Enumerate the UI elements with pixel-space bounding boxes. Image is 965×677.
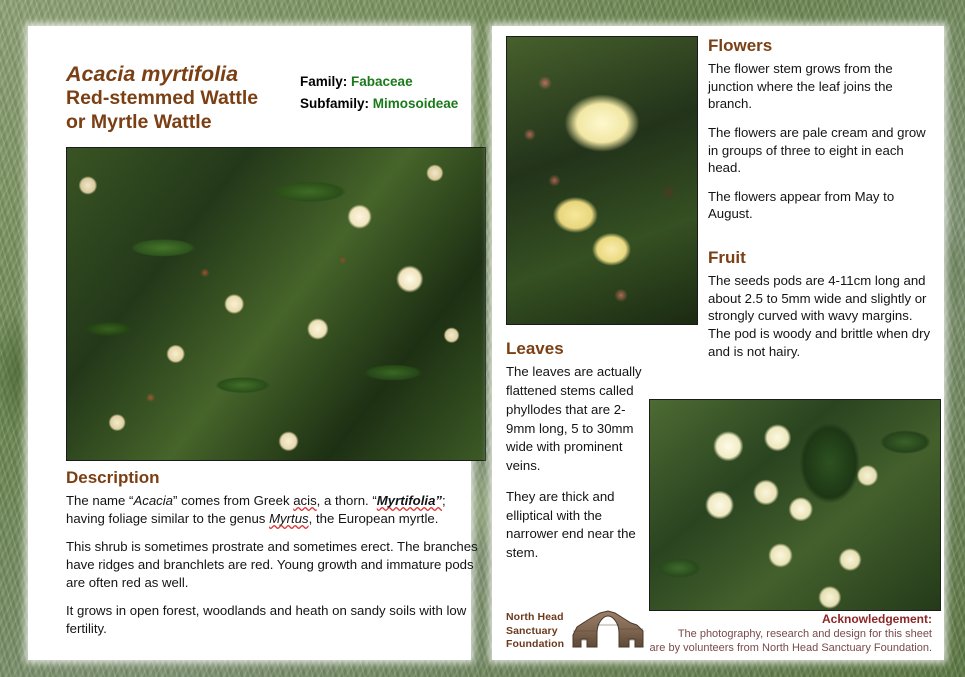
description-paragraph-2: This shrub is sometimes prostrate and so… — [66, 538, 486, 591]
subfamily-value: Mimosoideae — [373, 96, 459, 111]
fruit-paragraph-1: The seeds pods are 4-11cm long and about… — [708, 272, 932, 360]
taxonomy-family-row: Family: Fabaceae — [300, 71, 500, 93]
desc-p1-part-e: , the European myrtle. — [309, 511, 439, 526]
desc-p1-myrtus: Myrtus — [269, 511, 309, 526]
subfamily-label: Subfamily: — [300, 96, 369, 111]
common-name-line-1: Red-stemmed Wattle — [66, 87, 298, 111]
desc-p1-part-a: The name “ — [66, 493, 133, 508]
acknowledgement-block: Acknowledgement: The photography, resear… — [650, 612, 932, 655]
acknowledgement-line-1: The photography, research and design for… — [650, 627, 932, 641]
leaves-heading: Leaves — [506, 339, 646, 359]
description-section: Description The name “Acacia” comes from… — [66, 468, 486, 637]
flowers-paragraph-1: The flower stem grows from the junction … — [708, 60, 932, 113]
flowers-paragraph-2: The flowers are pale cream and grow in g… — [708, 124, 932, 177]
foundation-logo: North Head Sanctuary Foundation — [506, 609, 645, 654]
desc-p1-myrtifolia: Myrtifolia” — [377, 493, 442, 508]
fact-sheet-page: Acacia myrtifolia Red-stemmed Wattle or … — [0, 0, 965, 677]
footer: North Head Sanctuary Foundation — [492, 604, 944, 660]
flowers-heading: Flowers — [708, 36, 932, 56]
foundation-logo-text: North Head Sanctuary Foundation — [506, 611, 564, 651]
fruit-heading: Fruit — [708, 248, 932, 268]
flowers-section: Flowers The flower stem grows from the j… — [708, 36, 932, 223]
family-value: Fabaceae — [351, 74, 413, 89]
leaves-flowers-photo-image — [650, 400, 940, 610]
desc-p1-part-c: , a thorn. “ — [317, 493, 377, 508]
leaves-section: Leaves The leaves are actually flattened… — [506, 339, 646, 563]
common-name-line-2: or Myrtle Wattle — [66, 111, 298, 135]
description-paragraph-3: It grows in open forest, woodlands and h… — [66, 602, 486, 637]
description-heading: Description — [66, 468, 486, 488]
logo-line-2: Sanctuary — [506, 625, 564, 638]
logo-line-3: Foundation — [506, 638, 564, 651]
acknowledgement-line-2: are by volunteers from North Head Sanctu… — [650, 641, 932, 655]
right-panel: Flowers The flower stem grows from the j… — [492, 26, 944, 660]
desc-p1-acacia: Acacia — [133, 493, 173, 508]
fruit-section: Fruit The seeds pods are 4-11cm long and… — [708, 248, 932, 360]
acknowledgement-title: Acknowledgement: — [650, 612, 932, 626]
logo-line-1: North Head — [506, 611, 564, 624]
main-shrub-photo-image — [67, 148, 485, 460]
taxonomy-block: Family: Fabaceae Subfamily: Mimosoideae — [300, 71, 500, 115]
leaves-paragraph-1: The leaves are actually flattened stems … — [506, 363, 646, 475]
leaves-paragraph-2: They are thick and elliptical with the n… — [506, 488, 646, 563]
flowers-paragraph-3: The flowers appear from May to August. — [708, 188, 932, 223]
stone-archway-icon — [571, 609, 645, 654]
page-title-scientific-name: Acacia myrtifolia — [66, 62, 238, 86]
desc-p1-part-b: ” comes from Greek — [173, 493, 293, 508]
taxonomy-subfamily-row: Subfamily: Mimosoideae — [300, 93, 500, 115]
main-shrub-photo — [66, 147, 486, 461]
flower-closeup-photo-image — [507, 37, 697, 324]
family-label: Family: — [300, 74, 347, 89]
leaves-flowers-photo — [649, 399, 941, 611]
left-panel: Acacia myrtifolia Red-stemmed Wattle or … — [28, 26, 471, 660]
desc-p1-acis: acis — [293, 493, 316, 508]
flower-closeup-photo — [506, 36, 698, 325]
description-paragraph-1: The name “Acacia” comes from Greek acis,… — [66, 492, 486, 527]
